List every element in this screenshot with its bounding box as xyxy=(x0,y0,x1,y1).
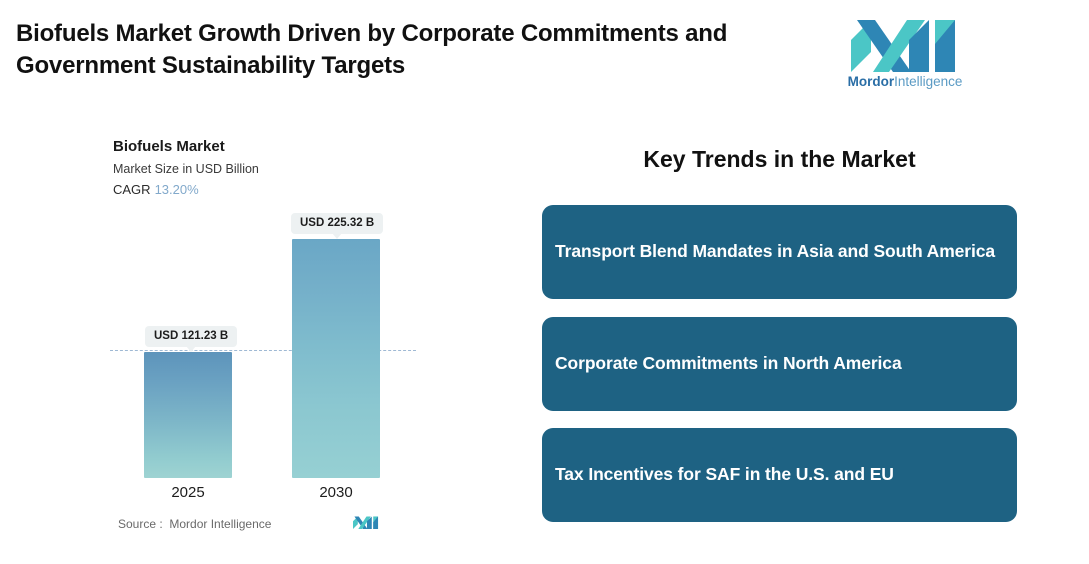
chart-panel: Biofuels Market Market Size in USD Billi… xyxy=(0,120,520,550)
chart-source: Source : Mordor Intelligence xyxy=(118,517,271,531)
value-label-2030-text: USD 225.32 B xyxy=(300,217,374,229)
bar-2030[interactable] xyxy=(292,239,380,478)
page-title: Biofuels Market Growth Driven by Corpora… xyxy=(16,18,806,82)
chart-source-value: Mordor Intelligence xyxy=(169,517,271,531)
trend-card-1-label: Transport Blend Mandates in Asia and Sou… xyxy=(555,240,995,263)
trend-card-2-label: Corporate Commitments in North America xyxy=(555,352,902,375)
tooltip-pointer-icon xyxy=(332,233,342,239)
trend-card-3[interactable]: Tax Incentives for SAF in the U.S. and E… xyxy=(542,428,1017,522)
value-label-2030: USD 225.32 B xyxy=(291,213,383,234)
x-axis-label-2030: 2030 xyxy=(292,484,380,501)
x-axis-label-2025: 2025 xyxy=(144,484,232,501)
brand-wordmark-bold: Mordor xyxy=(848,74,895,89)
mordor-intelligence-monogram-icon xyxy=(353,513,379,531)
trend-card-1[interactable]: Transport Blend Mandates in Asia and Sou… xyxy=(542,205,1017,299)
brand-logo: MordorIntelligence xyxy=(845,14,965,92)
trend-card-3-label: Tax Incentives for SAF in the U.S. and E… xyxy=(555,463,894,486)
value-label-2025-text: USD 121.23 B xyxy=(154,330,228,342)
bar-2025[interactable] xyxy=(144,352,232,478)
key-trends-heading: Key Trends in the Market xyxy=(542,146,1017,173)
brand-wordmark: MordorIntelligence xyxy=(845,74,965,90)
brand-wordmark-light: Intelligence xyxy=(894,74,962,89)
bar-chart-plot-area: USD 121.23 B USD 225.32 B 2025 2030 xyxy=(0,120,520,550)
tooltip-pointer-icon xyxy=(186,346,196,352)
trend-card-2[interactable]: Corporate Commitments in North America xyxy=(542,317,1017,411)
value-label-2025: USD 121.23 B xyxy=(145,326,237,347)
mordor-intelligence-monogram-icon xyxy=(851,14,959,72)
key-trends-panel: Key Trends in the Market Transport Blend… xyxy=(542,140,1017,530)
chart-source-label: Source : xyxy=(118,517,163,531)
